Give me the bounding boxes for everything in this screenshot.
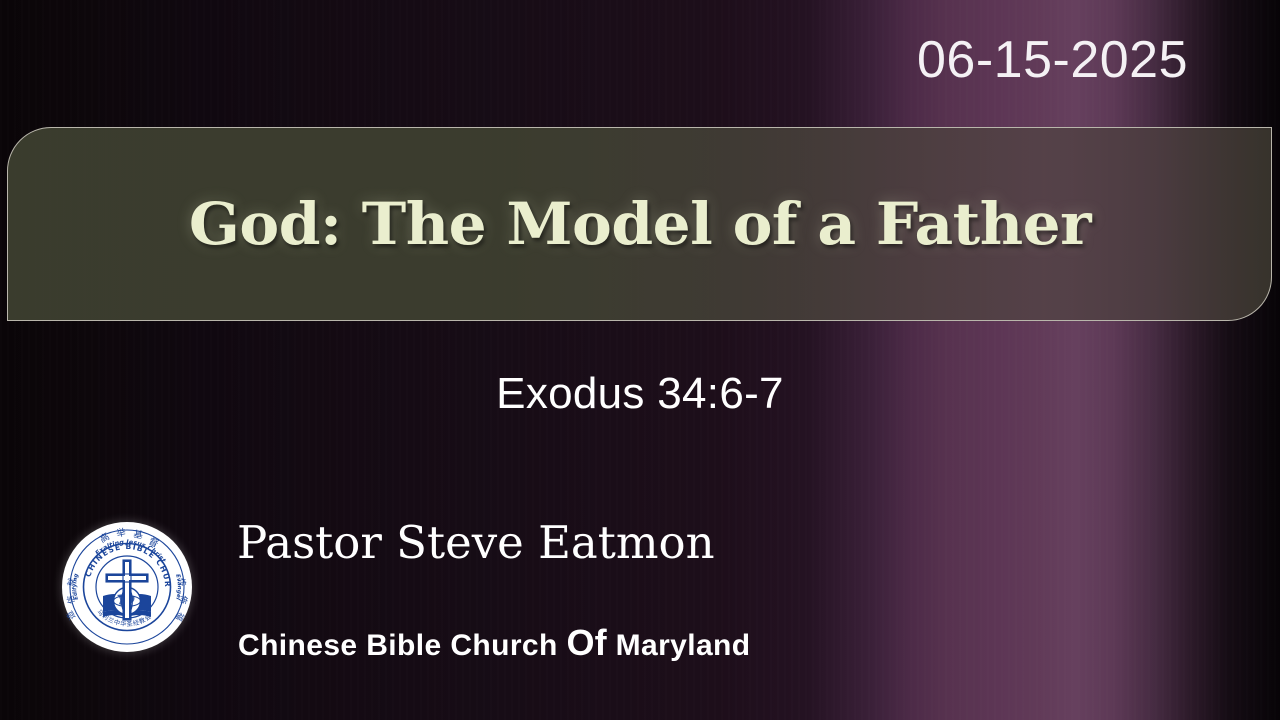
church-logo: 高 举 基 督 就 信 造 传 佈 福 Exalting Jesus Chris… <box>62 522 192 652</box>
church-name-part3: Maryland <box>607 629 751 662</box>
scripture-reference: Exodus 34:6-7 <box>0 369 1280 419</box>
background-vignette <box>0 0 1280 720</box>
sermon-title: God: The Model of a Father <box>188 190 1090 258</box>
church-name: Chinese Bible Church Of Maryland <box>238 622 751 664</box>
church-name-part1: Chinese Bible Church <box>238 629 566 662</box>
speaker-name: Pastor Steve Eatmon <box>237 516 715 569</box>
church-name-of: Of <box>566 622 606 663</box>
church-logo-graphic: 高 举 基 督 就 信 造 传 佈 福 Exalting Jesus Chris… <box>62 522 192 652</box>
sermon-title-slide: 06-15-2025 God: The Model of a Father Ex… <box>0 0 1280 720</box>
sermon-date: 06-15-2025 <box>917 34 1188 86</box>
title-panel: God: The Model of a Father <box>7 127 1272 321</box>
